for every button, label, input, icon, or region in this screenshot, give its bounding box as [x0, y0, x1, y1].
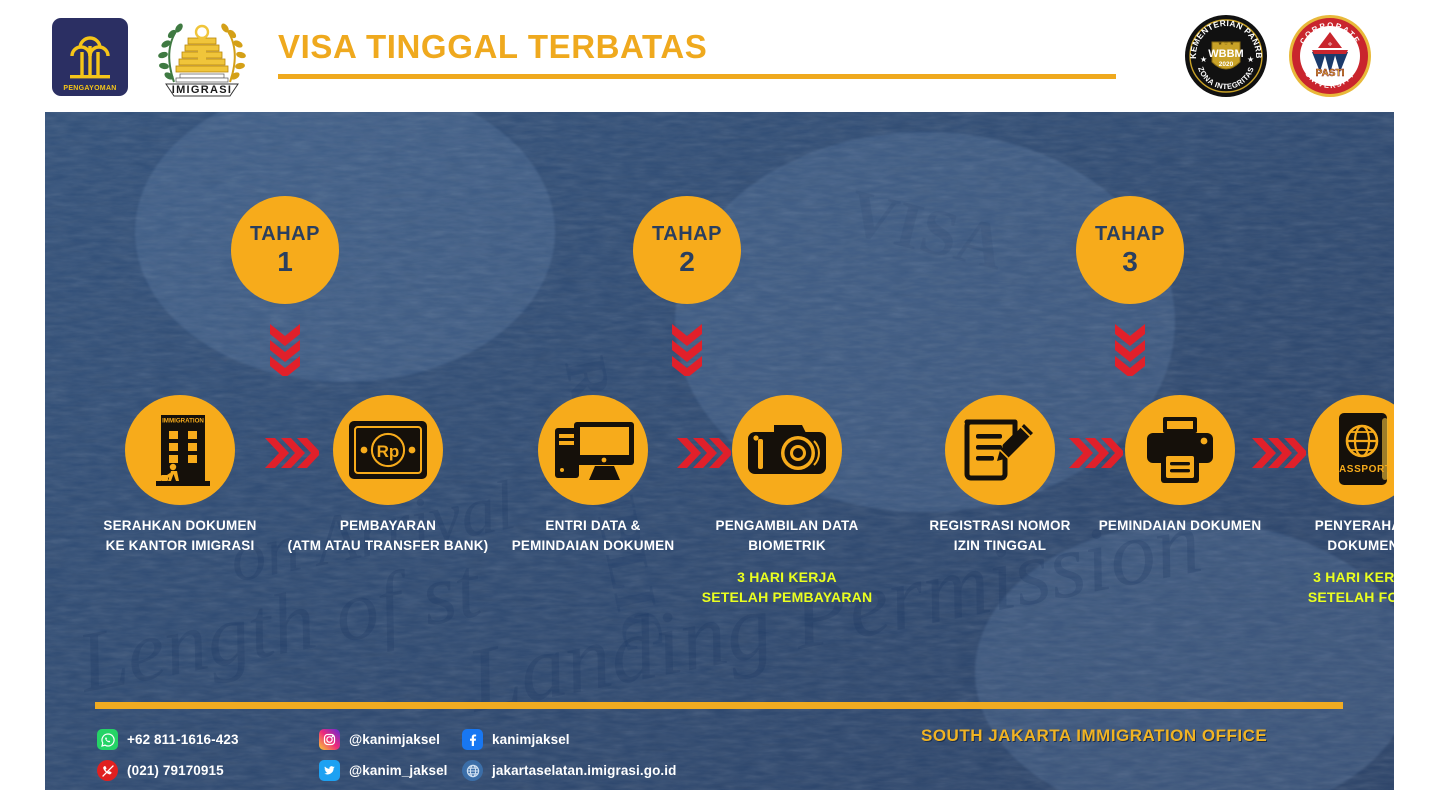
contact-website[interactable]: jakartaselatan.imigrasi.go.id: [462, 755, 676, 786]
contact-instagram[interactable]: @kanimjaksel: [319, 724, 448, 755]
step-2: Rp PEMBAYARAN(ATM ATAU TRANSFER BANK): [283, 395, 493, 555]
title-block: VISA TINGGAL TERBATAS: [278, 30, 1116, 79]
footer-contacts-col-3: kanimjaksel jakartaselatan.imigrasi.go.i…: [462, 724, 676, 786]
pengayoman-logo: PENGAYOMAN: [52, 18, 128, 96]
step-5-circle: [945, 395, 1055, 505]
step-2-label: PEMBAYARAN(ATM ATAU TRANSFER BANK): [283, 516, 493, 555]
contact-phone[interactable]: (021) 79170915: [97, 755, 239, 786]
imigrasi-logo: IMIGRASI: [150, 12, 254, 104]
svg-text:Rp: Rp: [377, 442, 400, 461]
down-chevrons-2: [670, 322, 704, 376]
contact-facebook[interactable]: kanimjaksel: [462, 724, 676, 755]
printer-icon: [1141, 413, 1219, 487]
desktop-computer-icon: [551, 414, 635, 486]
stage-circle-3: TAHAP 3: [1076, 196, 1184, 304]
website-icon: [462, 760, 483, 781]
svg-text:PASTI: PASTI: [1316, 68, 1345, 79]
stage-number-1: 1: [277, 248, 293, 276]
main-panel: Length of st Landing Permission on Arriv…: [45, 112, 1394, 790]
contact-whatsapp-text: +62 811-1616-423: [127, 732, 239, 747]
contact-website-text: jakartaselatan.imigrasi.go.id: [492, 763, 676, 778]
contact-facebook-text: kanimjaksel: [492, 732, 570, 747]
svg-text:★: ★: [1200, 55, 1207, 64]
stage-word-3: TAHAP: [1095, 224, 1165, 244]
footer-divider: [95, 702, 1343, 709]
instagram-icon: [319, 729, 340, 750]
step-5: REGISTRASI NOMORIZIN TINGGAL: [895, 395, 1105, 555]
pengayoman-tree-icon: [59, 26, 121, 88]
svg-text:★: ★: [1247, 55, 1254, 64]
step-1-circle: IMMIGRATION: [125, 395, 235, 505]
stage-number-3: 3: [1122, 248, 1138, 276]
footer-contacts: +62 811-1616-423 (021) 79170915: [97, 724, 239, 786]
step-7-circle: PASSPORT: [1308, 395, 1394, 505]
step-6-label: PEMINDAIAN DOKUMEN: [1075, 516, 1285, 536]
stage-circle-2: TAHAP 2: [633, 196, 741, 304]
step-7-label: PENYERAHANDOKUMEN: [1258, 516, 1394, 555]
facebook-icon: [462, 729, 483, 750]
svg-text:WBBM: WBBM: [1208, 48, 1243, 60]
seal-corporate-university: CORPORATE UNIVERSITY ✛ PASTI: [1288, 14, 1372, 98]
step-6-circle: [1125, 395, 1235, 505]
banknote-rupiah-icon: Rp: [347, 419, 429, 481]
page-title: VISA TINGGAL TERBATAS: [278, 30, 1116, 63]
step-1: IMMIGRATION SERAHKAN DOKUMENKE KANTOR IM…: [75, 395, 285, 555]
immigration-building-icon: IMMIGRATION: [141, 411, 219, 489]
title-underline: [278, 74, 1116, 79]
footer-contacts-col-2: @kanimjaksel @kanim_jaksel: [319, 724, 448, 786]
passport-icon: PASSPORT: [1332, 410, 1394, 490]
phone-icon: [97, 760, 118, 781]
step-4-circle: [732, 395, 842, 505]
step-3-label: ENTRI DATA &PEMINDAIAN DOKUMEN: [488, 516, 698, 555]
svg-text:★ ☆ ★: ★ ☆ ★: [1218, 41, 1235, 47]
svg-text:IMMIGRATION: IMMIGRATION: [162, 417, 204, 424]
document-pen-icon: [961, 414, 1039, 486]
svg-text:PASSPORT: PASSPORT: [1332, 464, 1391, 475]
step-3-circle: [538, 395, 648, 505]
pasti-seal-icon: CORPORATE UNIVERSITY ✛ PASTI: [1288, 14, 1372, 98]
step-7-note: 3 HARI KERJASETELAH FOTO: [1258, 568, 1394, 607]
stage-number-2: 2: [679, 248, 695, 276]
twitter-icon: [319, 760, 340, 781]
office-name: SOUTH JAKARTA IMMIGRATION OFFICE: [921, 726, 1267, 746]
imigrasi-emblem-icon: IMIGRASI: [150, 12, 254, 104]
seal-kementerian-panrb: KEMENTERIAN PANRB ZONA INTEGRITAS ★ ☆ ★ …: [1184, 14, 1268, 98]
step-7: PASSPORT PENYERAHANDOKUMEN 3 HARI KERJAS…: [1258, 395, 1394, 607]
page-header: PENGAYOMAN: [0, 0, 1440, 112]
step-3: ENTRI DATA &PEMINDAIAN DOKUMEN: [488, 395, 698, 555]
stage-circle-1: TAHAP 1: [231, 196, 339, 304]
wbbm-seal-icon: KEMENTERIAN PANRB ZONA INTEGRITAS ★ ☆ ★ …: [1184, 14, 1268, 98]
stage-word-2: TAHAP: [652, 224, 722, 244]
camera-icon: [744, 419, 830, 481]
step-4-note: 3 HARI KERJASETELAH PEMBAYARAN: [682, 568, 892, 607]
svg-text:✛: ✛: [1328, 42, 1333, 48]
step-4: PENGAMBILAN DATABIOMETRIK 3 HARI KERJASE…: [682, 395, 892, 607]
step-4-label: PENGAMBILAN DATABIOMETRIK: [682, 516, 892, 555]
whatsapp-icon: [97, 729, 118, 750]
contact-twitter-text: @kanim_jaksel: [349, 763, 448, 778]
down-chevrons-3: [1113, 322, 1147, 376]
contact-phone-text: (021) 79170915: [127, 763, 224, 778]
contact-twitter[interactable]: @kanim_jaksel: [319, 755, 448, 786]
step-1-label: SERAHKAN DOKUMENKE KANTOR IMIGRASI: [75, 516, 285, 555]
svg-text:2020: 2020: [1219, 61, 1234, 68]
pengayoman-label: PENGAYOMAN: [52, 85, 128, 92]
step-5-label: REGISTRASI NOMORIZIN TINGGAL: [895, 516, 1105, 555]
svg-text:IMIGRASI: IMIGRASI: [172, 84, 233, 96]
down-chevrons-1: [268, 322, 302, 376]
contact-whatsapp[interactable]: +62 811-1616-423: [97, 724, 239, 755]
contact-instagram-text: @kanimjaksel: [349, 732, 440, 747]
step-2-circle: Rp: [333, 395, 443, 505]
stage-word-1: TAHAP: [250, 224, 320, 244]
